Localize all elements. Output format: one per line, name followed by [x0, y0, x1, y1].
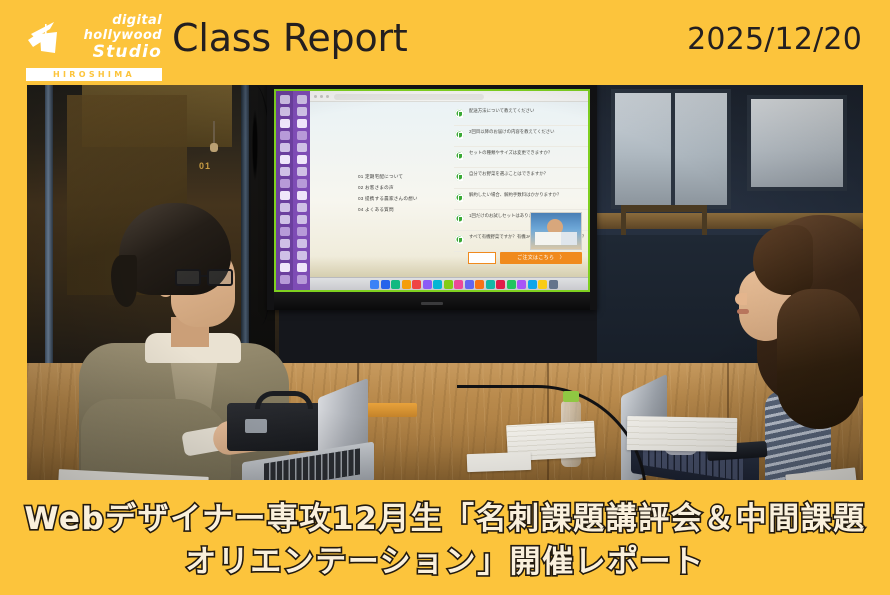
app-sidebar-icon: [280, 203, 290, 212]
woman-hair-front: [777, 289, 861, 429]
app-sidebar-icon: [280, 95, 290, 104]
dock-app-icon: [444, 280, 453, 289]
app-sidebar-icon: [280, 263, 290, 272]
app-sidebar-icon: [297, 131, 307, 140]
page-video-thumbnail: [530, 212, 582, 250]
page-cta-button: ご注文はこちら 〉: [500, 252, 582, 264]
dock-app-icon: [496, 280, 505, 289]
printed-handout: [467, 452, 532, 472]
report-date: 2025/12/20: [687, 22, 862, 57]
app-sidebar-icon: [297, 119, 307, 128]
display-screen: 01 定期宅配について02 お客さまの声03 提携する農家さんの想い04 よくあ…: [274, 89, 590, 292]
leaf-badge-icon: [455, 172, 464, 181]
dock-app-icon: [507, 280, 516, 289]
page-section-list-item: 02 お客さまの声: [358, 182, 418, 193]
door-number-label: 01: [199, 161, 211, 171]
logo-line-2: hollywood: [70, 29, 162, 44]
glasses-lens-left: [175, 269, 201, 286]
leaf-badge-icon: [455, 151, 464, 160]
dock-app-icon: [528, 280, 537, 289]
dhs-logo-mark-icon: [24, 20, 66, 60]
app-sidebar-icon: [280, 167, 290, 176]
window-left: [611, 89, 731, 209]
app-sidebar-icon: [280, 251, 290, 260]
silver-laptop: [242, 390, 402, 480]
window-right: [747, 95, 847, 191]
app-sidebar-icon: [280, 107, 290, 116]
brand-logo: digital hollywood Studio HIROSHIMA: [22, 12, 162, 74]
page-section-list-item: 01 定期宅配について: [358, 171, 418, 182]
page-section-list-item: 04 よくある質問: [358, 204, 418, 215]
macos-dock: [310, 277, 588, 290]
wall-display: 01 定期宅配について02 お客さまの声03 提携する農家さんの想い04 よくあ…: [267, 85, 597, 310]
app-sidebar-icon: [297, 203, 307, 212]
app-sidebar-icon: [297, 107, 307, 116]
app-sidebar-icon: [280, 215, 290, 224]
dock-app-icon: [423, 280, 432, 289]
dock-app-icon: [433, 280, 442, 289]
app-sidebar-icon: [280, 131, 290, 140]
app-sidebar-icon: [297, 263, 307, 272]
faq-question: 解約したい場合、解約手数料はかかりますか？: [469, 192, 590, 199]
glass-frame-left: [45, 85, 53, 385]
logo-line-1: digital: [70, 14, 162, 29]
app-sidebar-icon: [297, 275, 307, 284]
man-hair-tuft: [111, 255, 137, 307]
page-cta-secondary: [468, 252, 496, 264]
video-caption-box: [535, 232, 561, 245]
dock-app-icon: [465, 280, 474, 289]
caption-line-1: Webデザイナー専攻12月生「名刺課題講評会＆中間課題: [24, 499, 865, 540]
leaf-badge-icon: [455, 235, 464, 244]
app-sidebar-icon: [280, 227, 290, 236]
dock-app-icon: [549, 280, 558, 289]
sidebar-icon-column-2: [294, 95, 310, 284]
leaf-badge-icon: [455, 130, 464, 139]
app-sidebar-icon: [280, 155, 290, 164]
app-sidebar-icon: [297, 155, 307, 164]
faq-row: 2回目以降のお届けの内容を教えてください+: [454, 126, 590, 147]
dock-app-icon: [381, 280, 390, 289]
window-mullion: [671, 93, 675, 205]
leaf-badge-icon: [455, 109, 464, 118]
woman-nose: [735, 293, 747, 305]
printed-handout: [627, 416, 738, 452]
page-section-list: 01 定期宅配について02 お客さまの声03 提携する農家さんの想い04 よくあ…: [358, 171, 418, 215]
faq-question: 配送方法について教えてください: [469, 108, 590, 115]
browser-reload-icon: [326, 95, 329, 98]
logo-city-label: HIROSHIMA: [26, 68, 162, 81]
pendant-light: [213, 121, 215, 143]
browser-forward-icon: [320, 95, 323, 98]
dock-app-icon: [517, 280, 526, 289]
app-sidebar-icon: [280, 119, 290, 128]
app-sidebar-icon: [297, 143, 307, 152]
browser-toolbar: [310, 91, 588, 102]
dock-app-icon: [391, 280, 400, 289]
logo-wordmark: digital hollywood Studio: [70, 14, 162, 62]
app-sidebar-icon: [280, 143, 290, 152]
app-sidebar-icon: [280, 275, 290, 284]
dock-app-icon: [370, 280, 379, 289]
faq-row: 配送方法について教えてください+: [454, 105, 590, 126]
page-section-list-item: 03 提携する農家さんの想い: [358, 193, 418, 204]
app-sidebar-icon: [280, 239, 290, 248]
browser-back-icon: [314, 95, 317, 98]
report-caption: Webデザイナー専攻12月生「名刺課題講評会＆中間課題 オリエンテーション」開催…: [0, 487, 890, 595]
faq-question: 自分でお野菜を選ぶことはできますか？: [469, 171, 590, 178]
dock-app-icon: [402, 280, 411, 289]
app-sidebar-icon: [297, 191, 307, 200]
leaf-badge-icon: [455, 214, 464, 223]
app-sidebar-icon: [297, 95, 307, 104]
bottle-cap: [563, 391, 579, 402]
video-caption-box-2: [561, 232, 577, 245]
dock-app-icon: [412, 280, 421, 289]
app-sidebar-icon: [297, 251, 307, 260]
sidebar-icon-column-1: [277, 95, 293, 284]
faq-row: 解約したい場合、解約手数料はかかりますか？+: [454, 189, 590, 210]
faq-row: 自分でお野菜を選ぶことはできますか？+: [454, 168, 590, 189]
dock-app-icon: [538, 280, 547, 289]
caption-line-2: オリエンテーション」開催レポート: [185, 542, 704, 583]
app-sidebar-icon: [297, 179, 307, 188]
faq-row: セットの種類やサイズは変更できますか？+: [454, 147, 590, 168]
browser-address-bar: [334, 94, 484, 100]
class-report-photo: 01 01 定期宅配について02 お客さまの声03 提携する農: [27, 85, 863, 480]
woman-bangs: [753, 225, 813, 295]
woman-lips: [737, 309, 749, 314]
app-sidebar-icon: [297, 167, 307, 176]
dock-app-icon: [454, 280, 463, 289]
dock-app-icon: [475, 280, 484, 289]
man-glasses: [175, 269, 237, 286]
logo-line-3: Studio: [70, 43, 162, 62]
app-sidebar-icon: [297, 215, 307, 224]
faq-question: 2回目以降のお届けの内容を教えてください: [469, 129, 590, 136]
leaf-badge-icon: [455, 193, 464, 202]
dock-app-icon: [486, 280, 495, 289]
app-sidebar-icon: [297, 239, 307, 248]
faq-question: セットの種類やサイズは変更できますか？: [469, 150, 590, 157]
app-sidebar-icon: [280, 179, 290, 188]
page-header: digital hollywood Studio HIROSHIMA Class…: [0, 0, 890, 85]
page-title: Class Report: [172, 16, 408, 60]
app-sidebar-icon: [297, 227, 307, 236]
glasses-lens-right: [207, 269, 233, 286]
display-brand-mark: [421, 302, 443, 305]
app-sidebar-icon: [280, 191, 290, 200]
display-bezel-bottom: [274, 292, 590, 310]
